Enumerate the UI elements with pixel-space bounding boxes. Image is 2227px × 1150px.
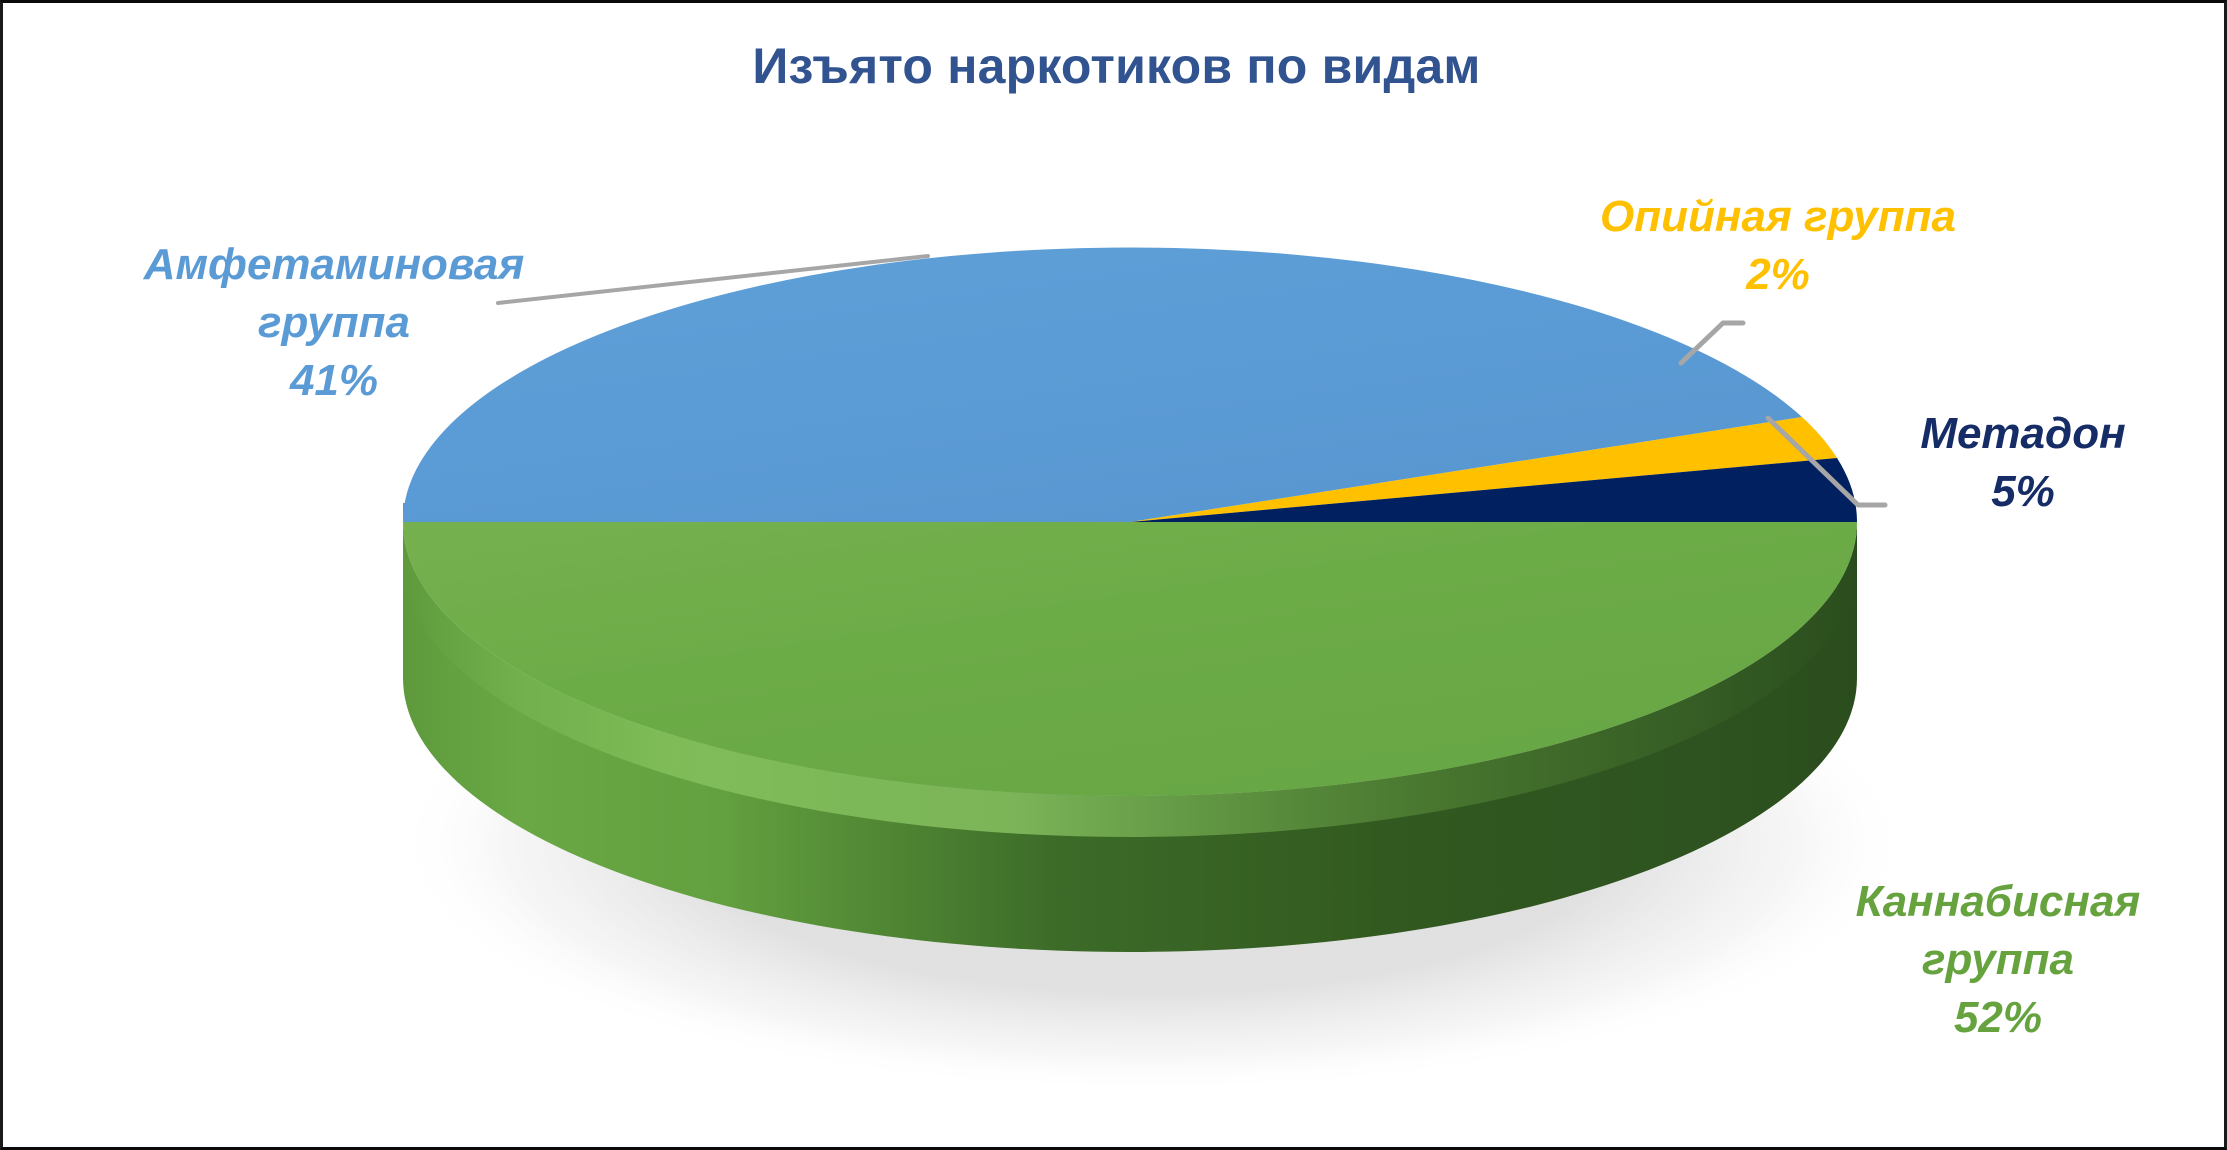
data-label-opioid: Опийная группа 2% [1563, 188, 1993, 304]
chart-canvas: Изъято наркотиков по видам [0, 0, 2227, 1150]
leader-line-opioid [1681, 323, 1743, 363]
data-label-cannabis: Каннабисная группа 52% [1798, 873, 2198, 1047]
data-label-methadone: Метадон 5% [1858, 405, 2188, 521]
data-label-amphetamine: Амфетаминовая группа 41% [99, 236, 569, 410]
